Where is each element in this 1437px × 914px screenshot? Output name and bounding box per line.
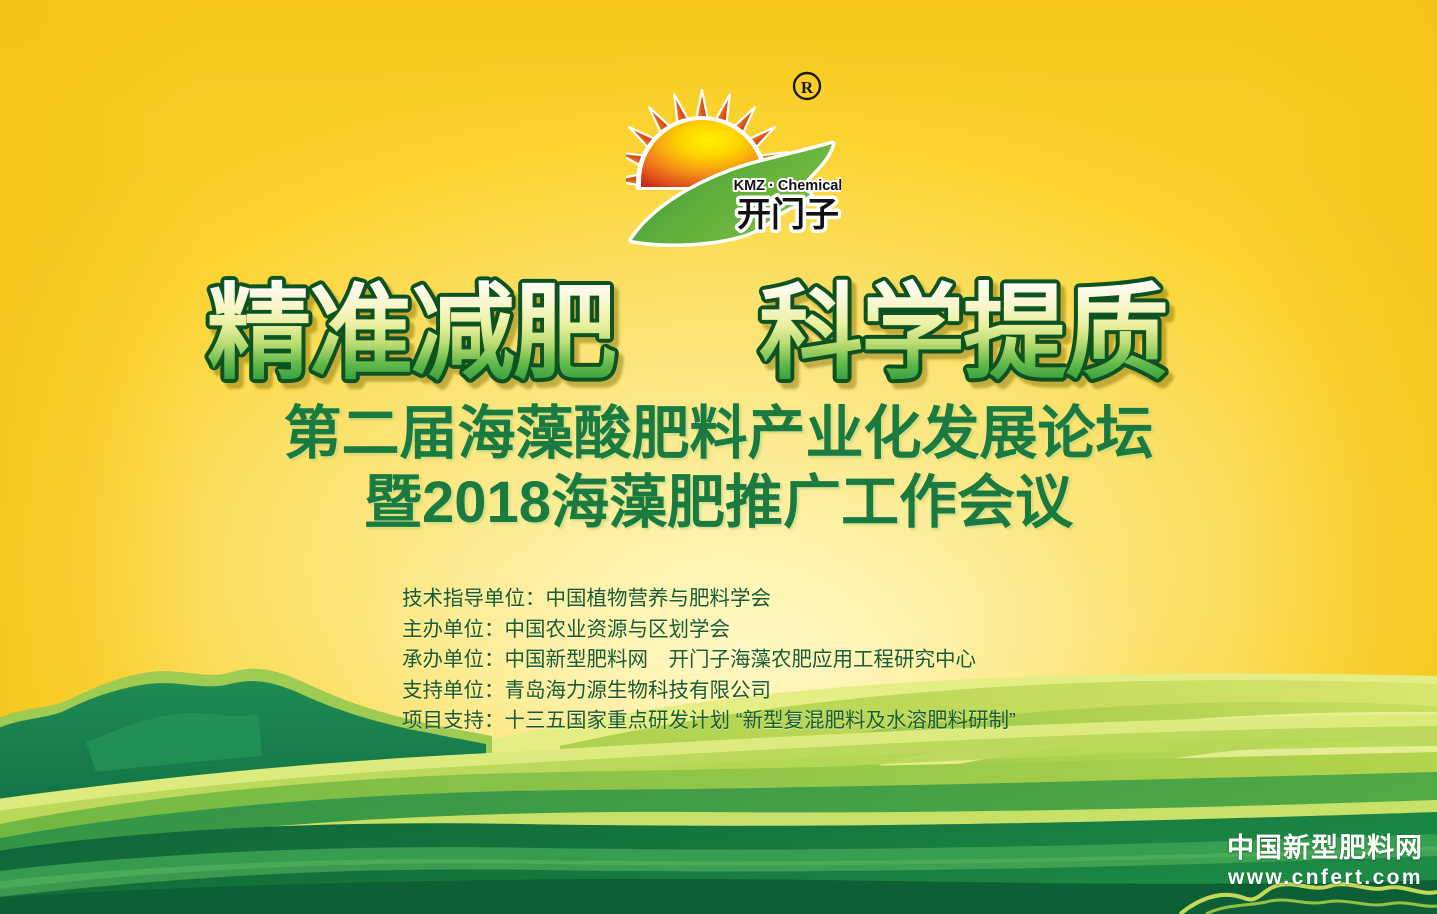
svg-text:开门子: 开门子 <box>737 196 839 234</box>
svg-text:R: R <box>801 78 814 97</box>
subtitle-block: 第二届海藻酸肥料产业化发展论坛 暨2018海藻肥推广工作会议 <box>0 403 1437 534</box>
headline-slogan: 精准减肥 精准减肥 科学提质 科学提质 <box>0 272 1437 392</box>
watermark-url: www.cnfert.com <box>1227 867 1423 888</box>
credit-line-project-support: 项目支持：十三五国家重点研发计划 “新型复混肥料及水溶肥料研制” <box>402 706 1016 737</box>
headline-part1: 精准减肥 <box>207 276 615 392</box>
poster-banner: R KMZ · Chemical KMZ · Chemical 开门子 开门子 <box>0 0 1437 914</box>
svg-text:KMZ · Chemical: KMZ · Chemical <box>734 178 841 194</box>
site-watermark: 中国新型肥料网 www.cnfert.com <box>1227 835 1423 888</box>
subtitle-line-2: 暨2018海藻肥推广工作会议 <box>0 472 1437 534</box>
credit-line-technical-guidance: 技术指导单位：中国植物营养与肥料学会 <box>402 584 1016 615</box>
subtitle-line-1: 第二届海藻酸肥料产业化发展论坛 <box>0 403 1437 465</box>
credit-line-undertaker: 承办单位：中国新型肥料网 开门子海藻农肥应用工程研究中心 <box>402 645 1016 676</box>
headline-part2: 科学提质 <box>759 276 1167 392</box>
credit-line-organizer: 主办单位：中国农业资源与区划学会 <box>402 615 1016 646</box>
registered-trademark-icon: R <box>794 73 820 99</box>
credits-block: 技术指导单位：中国植物营养与肥料学会 主办单位：中国农业资源与区划学会 承办单位… <box>402 584 1016 737</box>
logo-brand-cn: 开门子 开门子 <box>737 196 839 234</box>
kmz-chemical-logo: R KMZ · Chemical KMZ · Chemical 开门子 开门子 <box>626 58 841 248</box>
credit-line-supporter: 支持单位：青岛海力源生物科技有限公司 <box>402 676 1016 707</box>
logo-brand-latin: KMZ · Chemical KMZ · Chemical <box>734 178 841 194</box>
watermark-site-name: 中国新型肥料网 <box>1227 835 1423 862</box>
